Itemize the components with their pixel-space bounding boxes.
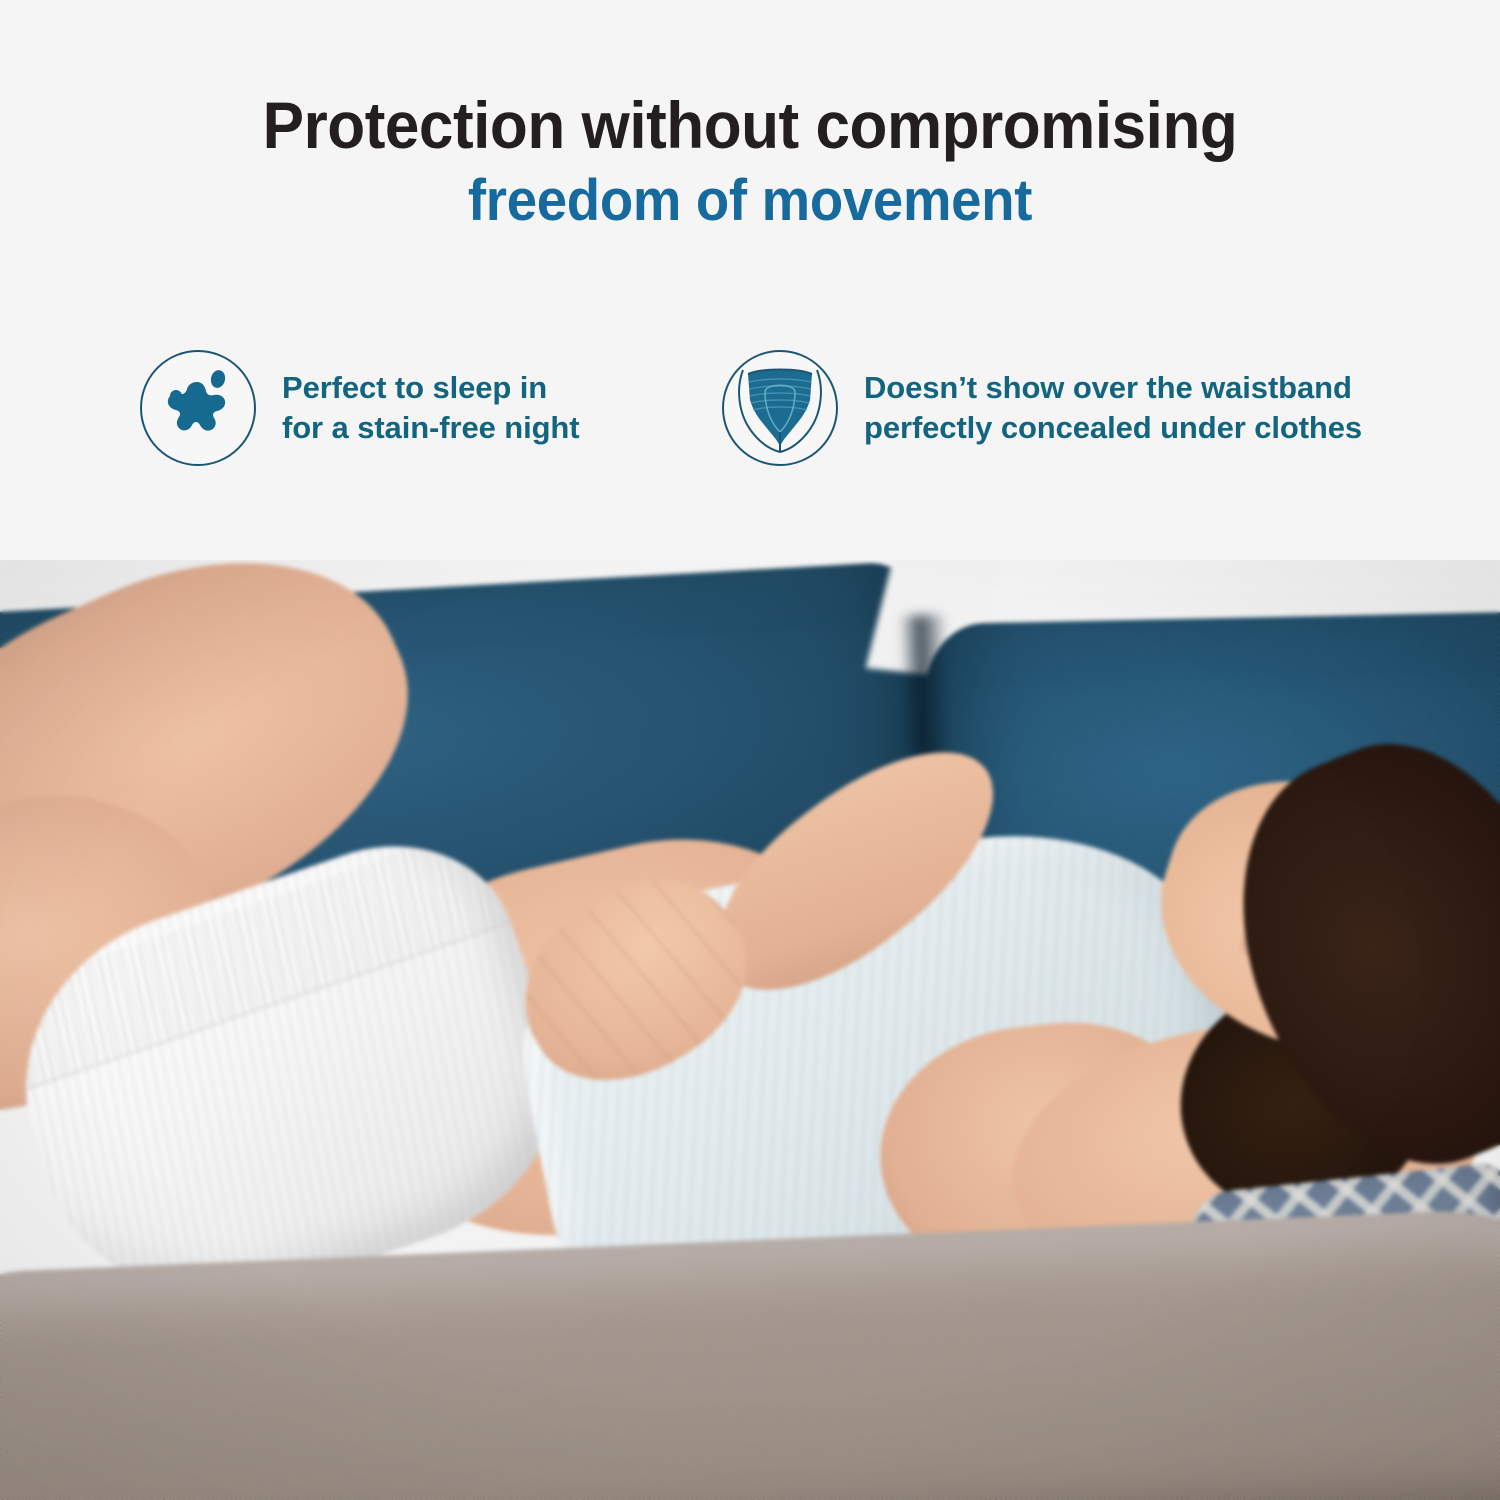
feature-list: Perfect to sleep in for a stain-free nig… (0, 348, 1500, 498)
feature-label-concealed: Doesn’t show over the waistband perfectl… (864, 368, 1362, 449)
headline-line-1: Protection without compromising (45, 92, 1455, 158)
lifestyle-photo (0, 555, 1500, 1500)
feature-item-sleep-in: Perfect to sleep in for a stain-free nig… (140, 350, 580, 466)
marketing-image-canvas: Protection without compromising freedom … (0, 0, 1500, 1500)
feature-label-sleep-in: Perfect to sleep in for a stain-free nig… (282, 368, 580, 449)
headline-panel: Protection without compromising freedom … (0, 0, 1500, 560)
splash-drop-icon (140, 350, 256, 466)
feature-item-concealed: Doesn’t show over the waistband perfectl… (722, 350, 1362, 466)
page-title: Protection without compromising freedom … (0, 92, 1500, 230)
headline-line-2: freedom of movement (45, 172, 1455, 230)
absorbent-brief-icon (722, 350, 838, 466)
